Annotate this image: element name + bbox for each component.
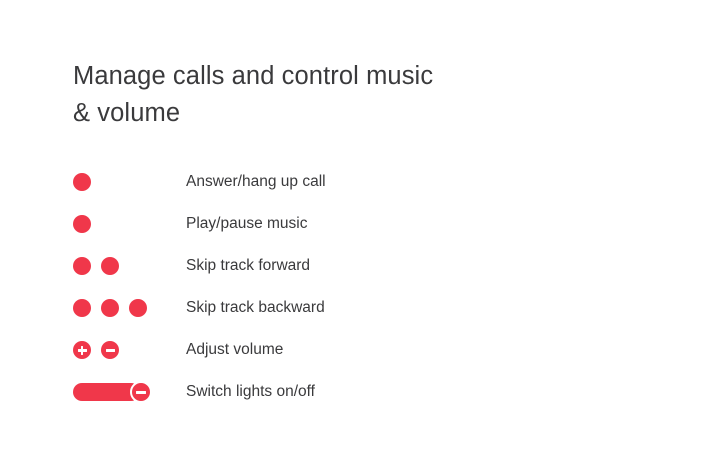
- legend-row-skip-track-backward: Skip track backward: [73, 287, 573, 329]
- gesture-single-press-indicator: [73, 161, 91, 203]
- long-press-pill-icon: [73, 381, 152, 403]
- press-dot-icon: [73, 299, 91, 317]
- gesture-plus-minus-indicator: [73, 329, 119, 371]
- press-dot-icon: [129, 299, 147, 317]
- legend-label: Answer/hang up call: [186, 161, 326, 203]
- legend-row-play-pause-music: Play/pause music: [73, 203, 573, 245]
- minus-icon: [130, 381, 152, 403]
- press-dot-icon: [101, 257, 119, 275]
- gesture-long-press-indicator: [73, 371, 152, 413]
- instruction-card: Manage calls and control music & volume …: [0, 0, 711, 459]
- gesture-single-press-indicator: [73, 203, 91, 245]
- gesture-legend-list: Answer/hang up call Play/pause music Ski…: [73, 161, 573, 413]
- press-dot-icon: [101, 299, 119, 317]
- press-dot-icon: [73, 173, 91, 191]
- press-dot-icon: [73, 257, 91, 275]
- minus-icon: [101, 341, 119, 359]
- legend-label: Play/pause music: [186, 203, 307, 245]
- legend-row-skip-track-forward: Skip track forward: [73, 245, 573, 287]
- legend-label: Skip track forward: [186, 245, 310, 287]
- gesture-triple-press-indicator: [73, 287, 147, 329]
- legend-label: Adjust volume: [186, 329, 283, 371]
- press-dot-icon: [73, 215, 91, 233]
- legend-label: Switch lights on/off: [186, 371, 315, 413]
- legend-label: Skip track backward: [186, 287, 325, 329]
- page-title: Manage calls and control music & volume: [73, 58, 593, 132]
- legend-row-switch-lights-on-off: Switch lights on/off: [73, 371, 573, 413]
- legend-row-adjust-volume: Adjust volume: [73, 329, 573, 371]
- plus-icon: [73, 341, 91, 359]
- legend-row-answer-hang-up-call: Answer/hang up call: [73, 161, 573, 203]
- gesture-double-press-indicator: [73, 245, 119, 287]
